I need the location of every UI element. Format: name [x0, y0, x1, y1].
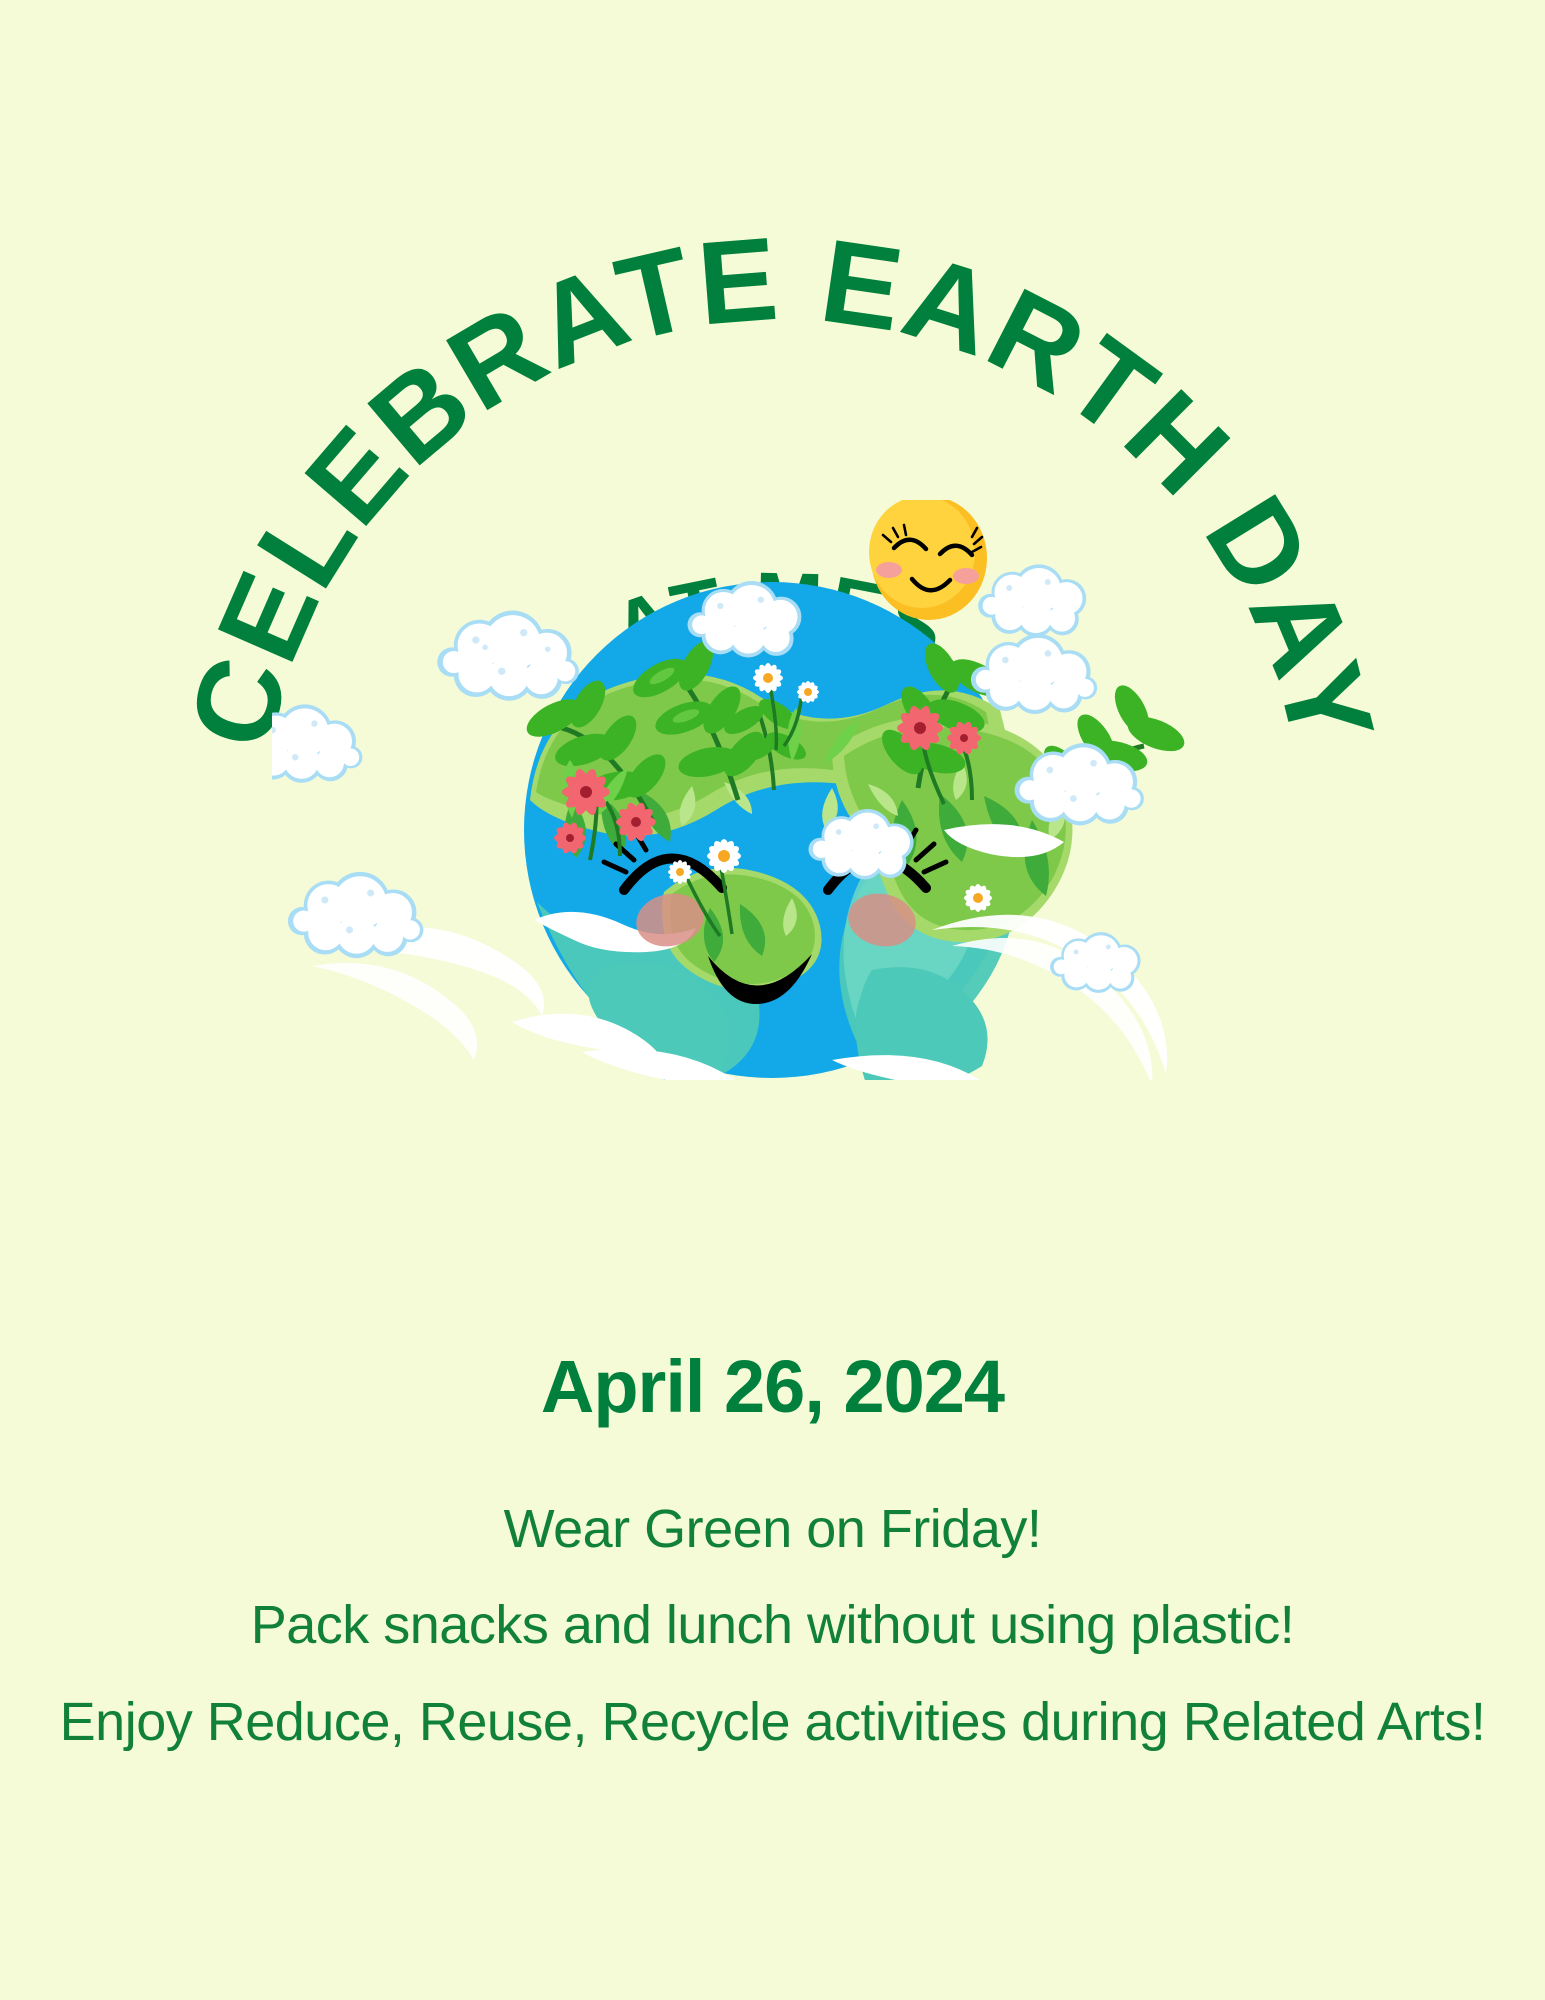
cloud-icon [978, 564, 1086, 637]
earth-illustration [272, 500, 1272, 1080]
cloud-icon [288, 872, 424, 958]
sun-icon [869, 500, 987, 620]
details-block: April 26, 2024 Wear Green on Friday! Pac… [0, 1350, 1545, 1751]
earth-illustration-svg [272, 500, 1272, 1080]
event-date: April 26, 2024 [0, 1350, 1545, 1424]
cloud-icon [272, 704, 362, 782]
instruction-line-3: Enjoy Reduce, Reuse, Recycle activities … [0, 1693, 1545, 1751]
cloud-icon [437, 611, 579, 701]
instruction-line-1: Wear Green on Friday! [0, 1500, 1545, 1558]
cloud-icon [971, 634, 1097, 714]
earth-day-poster: CELEBRATE EARTH DAY AT MES [0, 0, 1545, 2000]
instruction-line-2: Pack snacks and lunch without using plas… [0, 1596, 1545, 1654]
